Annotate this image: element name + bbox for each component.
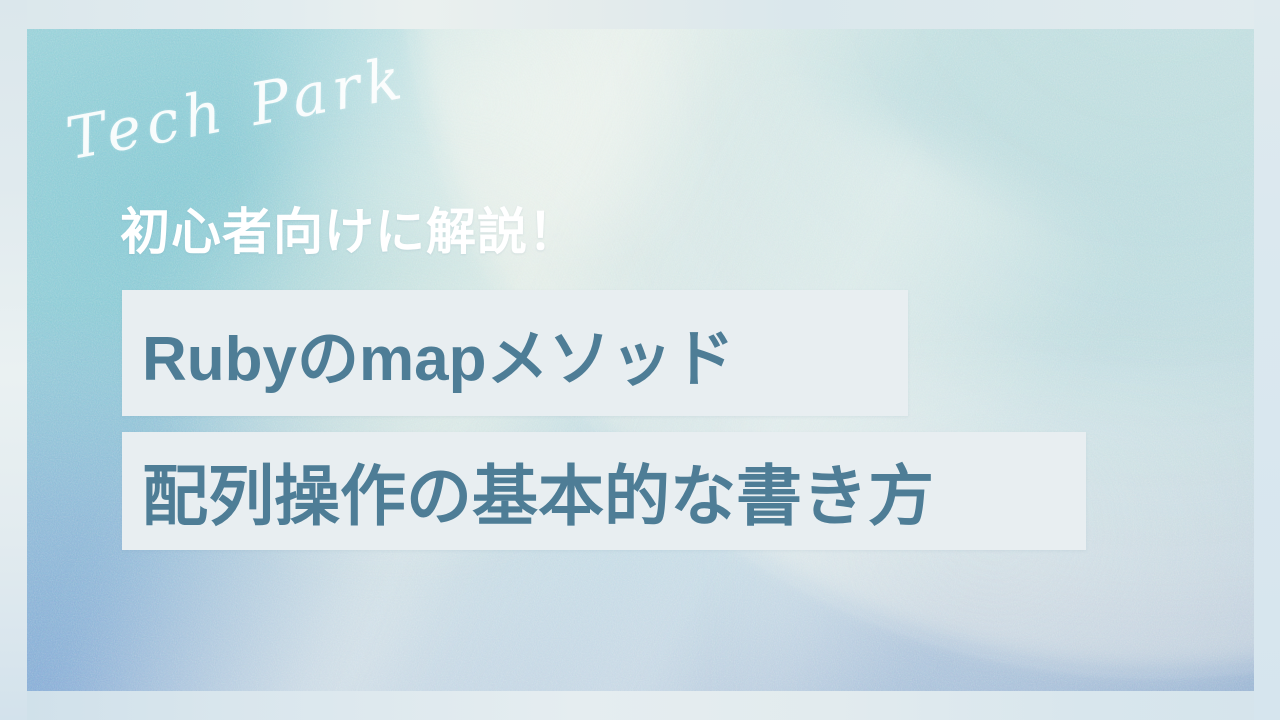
eyecatch-canvas: Tech Park 初心者向けに解説！ Rubyのmapメソッド 配列操作の基本… bbox=[0, 0, 1280, 720]
hero-content: Tech Park 初心者向けに解説！ Rubyのmapメソッド 配列操作の基本… bbox=[0, 0, 1280, 720]
hero-title-line-2-text: 配列操作の基本的な書き方 bbox=[142, 443, 934, 539]
brand-logo-wordmark: Tech Park bbox=[58, 20, 469, 187]
hero-title-line-2: 配列操作の基本的な書き方 bbox=[122, 432, 1086, 550]
hero-subtitle: 初心者向けに解説！ bbox=[120, 205, 579, 260]
hero-title-line-1-text: Rubyのmapメソッド bbox=[142, 308, 734, 398]
hero-title-line-1: Rubyのmapメソッド bbox=[122, 290, 908, 416]
